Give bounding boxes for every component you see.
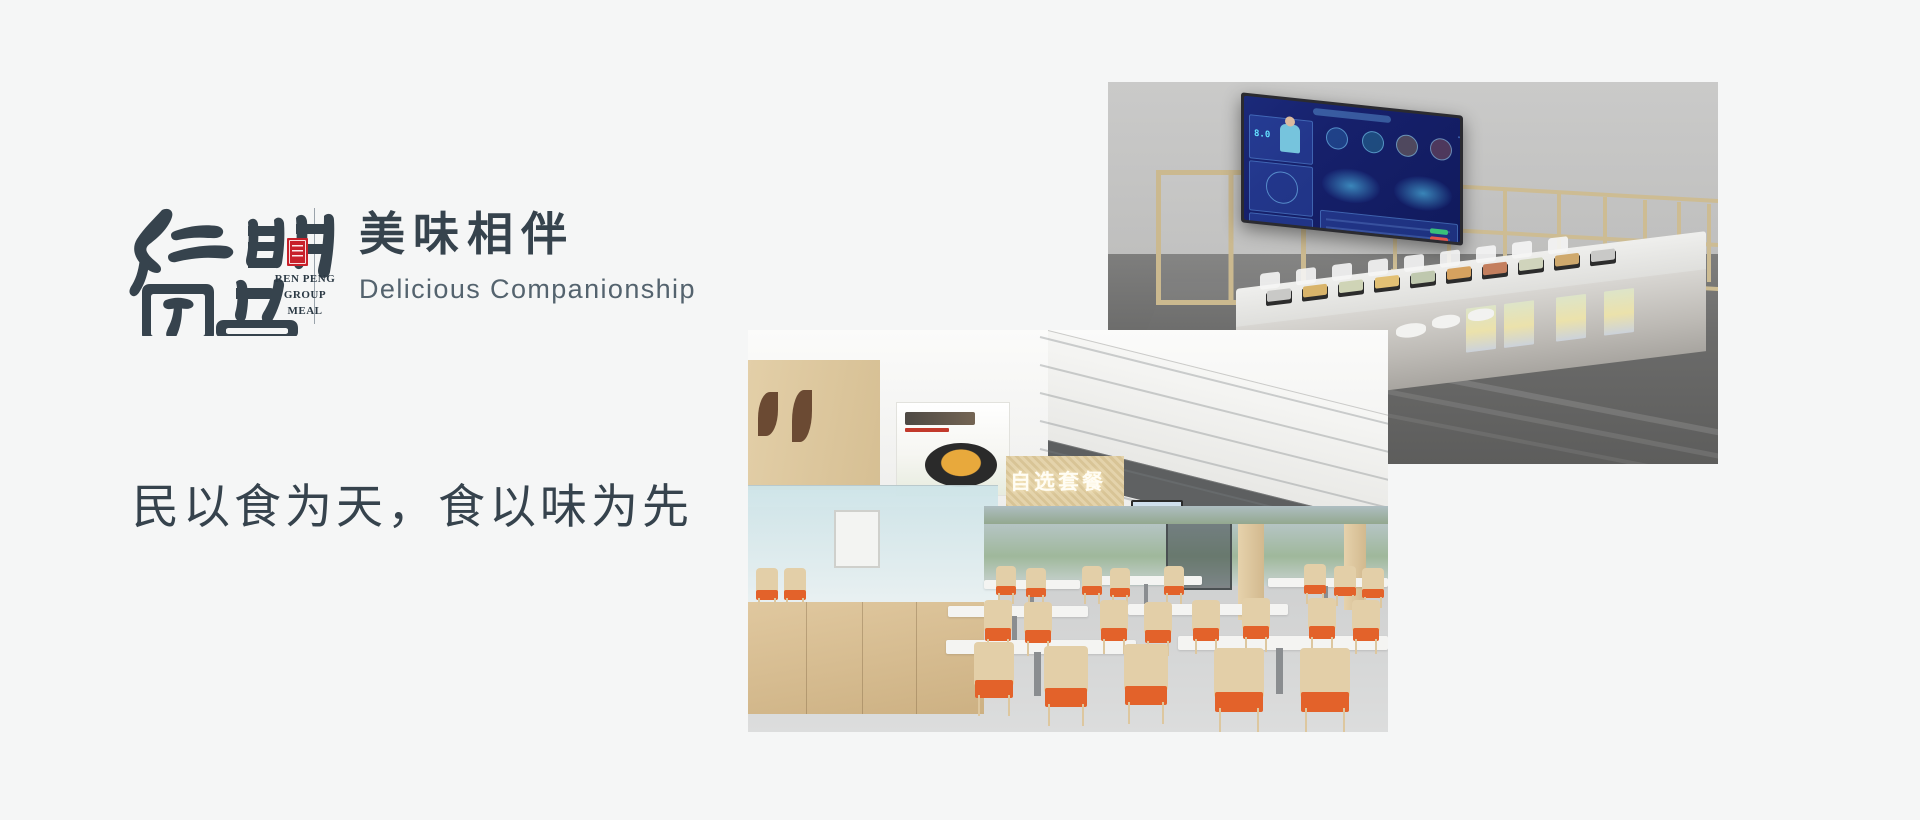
headline-title-en: Delicious Companionship	[359, 274, 696, 305]
logo-caption-line-3: MEAL	[240, 304, 370, 320]
logo-caption: REN PENG GROUP MEAL	[240, 272, 370, 320]
menu-poster	[896, 402, 1010, 496]
tagline: 民以食为天，食以味为先	[132, 468, 693, 537]
seal-stamp-icon	[287, 238, 308, 266]
signboard-text: 自选套餐	[1010, 466, 1122, 496]
dashboard-screen-content: 8.0	[1244, 96, 1460, 243]
brand-logo: REN PENG GROUP MEAL	[128, 196, 270, 336]
framed-picture	[834, 510, 880, 568]
banner-stage: REN PENG GROUP MEAL 美味相伴 Delicious Compa…	[0, 0, 1920, 820]
brand-row: REN PENG GROUP MEAL 美味相伴 Delicious Compa…	[128, 196, 696, 336]
headline-block: 美味相伴 Delicious Companionship	[359, 196, 696, 305]
headline-title-cn: 美味相伴	[359, 210, 696, 258]
cafeteria-photo: 自选套餐	[748, 330, 1388, 732]
dashboard-title-bar	[1313, 108, 1391, 123]
dashboard-metric-value: 8.0	[1254, 129, 1270, 141]
logo-caption-line-2: GROUP	[240, 288, 370, 304]
wood-counter	[748, 602, 984, 714]
dashboard-display-screen: 8.0	[1241, 92, 1463, 245]
logo-caption-line-1: REN PENG	[240, 272, 370, 288]
